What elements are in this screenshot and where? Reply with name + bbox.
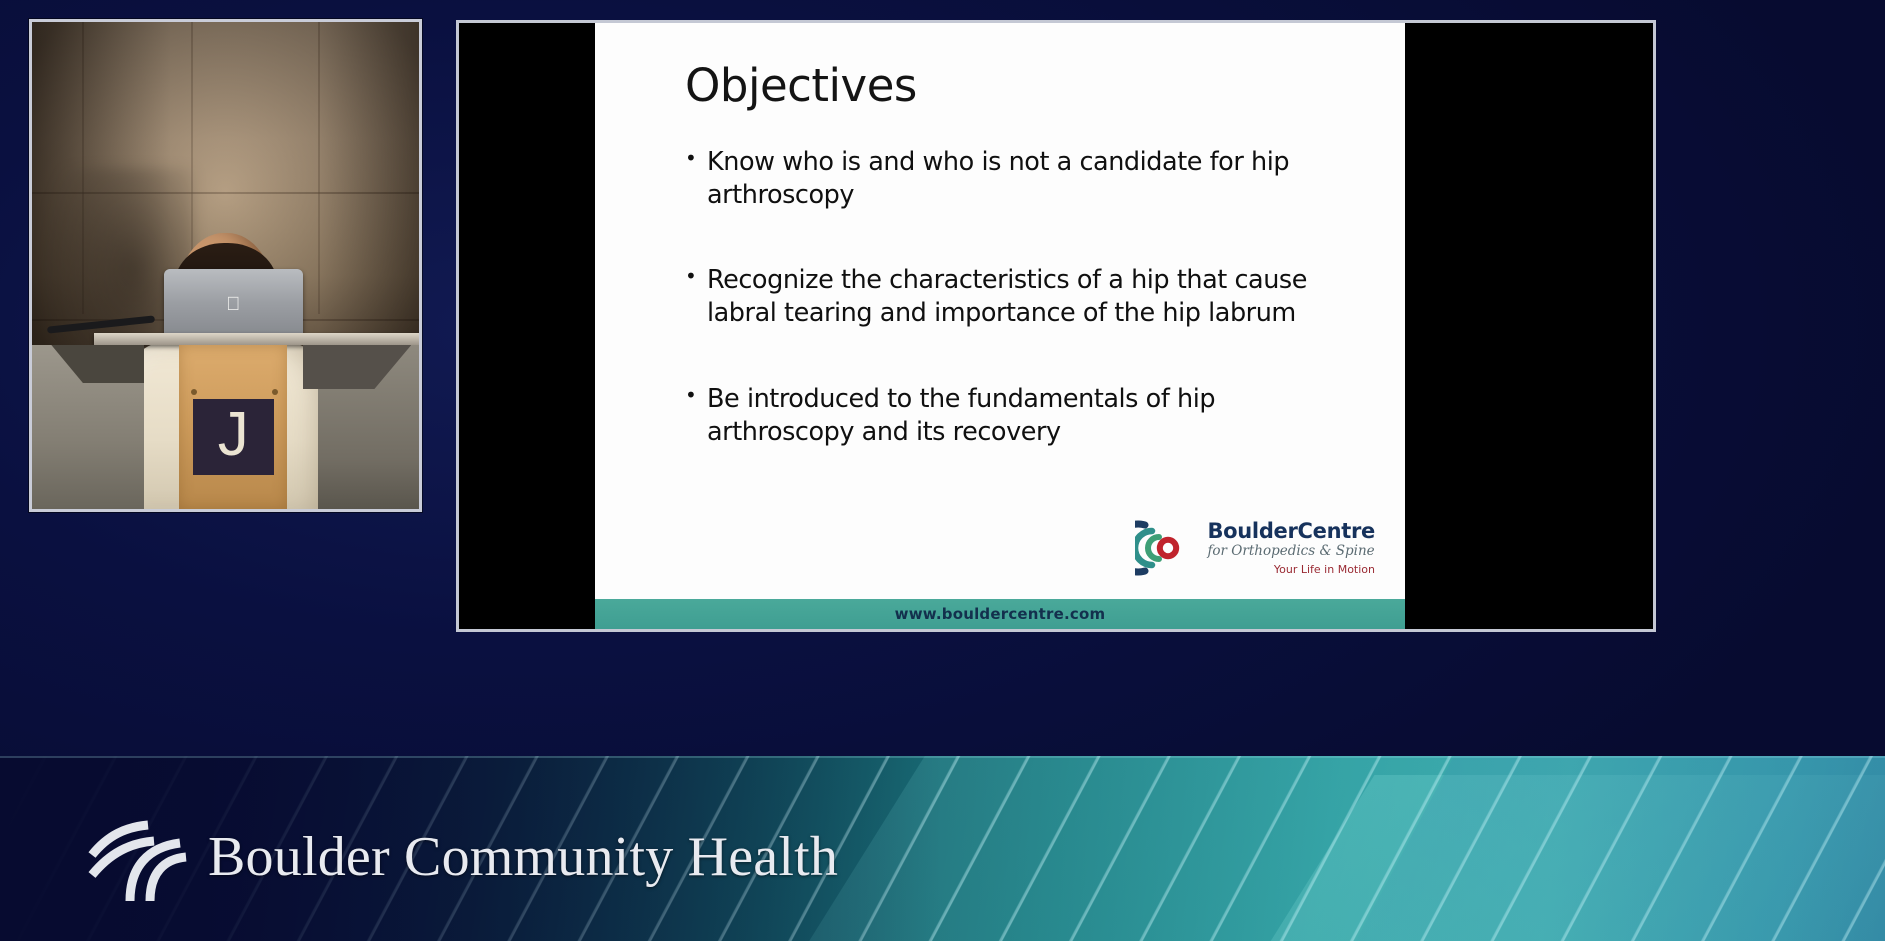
podium-screw-right (272, 389, 278, 395)
banner-top-divider (0, 756, 1885, 758)
podium-screw-left (191, 389, 197, 395)
slide-footer-url: www.bouldercentre.com (895, 605, 1106, 623)
podium-cable (47, 315, 155, 333)
speaker-video-panel[interactable]:  J (29, 19, 422, 512)
bch-wordmark: Boulder Community Health (208, 825, 838, 889)
podium-placard-letter: J (218, 404, 249, 466)
bouldercentre-subtitle: for Orthopedics & Spine (1207, 545, 1375, 559)
slide-bullet-3: Be introduced to the fundamentals of hip… (683, 383, 1323, 449)
slide-title: Objectives (685, 59, 1375, 112)
slide-footer-bar: www.bouldercentre.com (595, 599, 1405, 629)
slide-body: Objectives Know who is and who is not a … (595, 23, 1405, 599)
laptop:  (164, 269, 303, 337)
bouldercentre-wordmark: BoulderCentre for Orthopedics & Spine Yo… (1207, 521, 1375, 576)
slide-surface: Objectives Know who is and who is not a … (595, 23, 1405, 629)
podium-top-surface (94, 333, 419, 345)
apple-logo-icon:  (225, 294, 242, 314)
bouldercentre-tagline: Your Life in Motion (1207, 564, 1375, 575)
bouldercentre-logo: BoulderCentre for Orthopedics & Spine Yo… (1135, 517, 1375, 579)
slide-bullet-list: Know who is and who is not a candidate f… (683, 146, 1375, 449)
boulder-community-health-logo: Boulder Community Health (82, 809, 838, 905)
slide-bullet-1: Know who is and who is not a candidate f… (683, 146, 1323, 212)
podium:  J (32, 299, 419, 509)
podium-placard: J (193, 399, 274, 475)
swoosh-stripes-icon (82, 809, 190, 905)
slide-panel[interactable]: Objectives Know who is and who is not a … (456, 20, 1656, 632)
speaker-video-frame:  J (32, 22, 419, 509)
bouldercentre-mark-icon (1135, 517, 1197, 579)
slide-bullet-2: Recognize the characteristics of a hip t… (683, 264, 1323, 330)
bouldercentre-name: BoulderCentre (1207, 521, 1375, 542)
presentation-stage: Boulder Community Health (0, 0, 1885, 941)
